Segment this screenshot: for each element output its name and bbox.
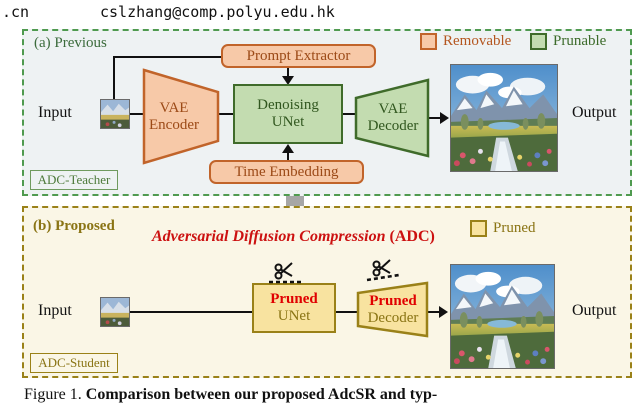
denoising-unet-box: Denoising UNet — [233, 84, 343, 144]
input-label-proposed: Input — [38, 302, 72, 320]
legend-prunable-swatch — [530, 33, 547, 50]
time-embedding-box: Time Embedding — [209, 160, 364, 184]
connector-prompt-branch-vert — [113, 56, 115, 100]
vae-decoder-line1: VAE — [379, 101, 408, 118]
pruned-decoder-label: Pruned Decoder — [355, 281, 431, 338]
adc-title: Adversarial Diffusion Compression (ADC) — [152, 228, 435, 246]
vae-encoder-line2: Encoder — [149, 117, 199, 134]
vae-decoder-label: VAE Decoder — [352, 78, 434, 158]
caption-bold: Comparison between our proposed AdcSR an… — [86, 386, 437, 403]
prompt-extractor-box: Prompt Extractor — [221, 44, 376, 68]
header-email: cslzhang@comp.polyu.edu.hk — [100, 3, 335, 21]
connector-input-pruned-unet — [130, 311, 252, 313]
scissors-icon — [366, 258, 400, 282]
pruned-decoder-top-label: Pruned — [369, 293, 417, 310]
legend-removable-swatch — [420, 33, 437, 50]
arrow-pruned-decoder-to-output — [439, 306, 448, 318]
vae-decoder-shape: VAE Decoder — [352, 78, 434, 158]
pruned-decoder-shape: Pruned Decoder — [355, 281, 431, 338]
pruned-decoder-bottom-label: Decoder — [368, 310, 419, 327]
vae-decoder-line2: Decoder — [368, 118, 419, 135]
pruned-unet-top-label: Pruned — [270, 291, 318, 308]
input-thumbnail-proposed — [100, 297, 130, 327]
adc-teacher-tag: ADC-Teacher — [30, 170, 118, 190]
arrow-time-to-unet — [282, 144, 294, 153]
input-thumbnail-previous — [100, 99, 130, 129]
arrow-decoder-to-output — [440, 112, 449, 124]
panel-b-label: (b) Proposed — [33, 218, 115, 235]
legend-removable: Removable — [420, 33, 511, 50]
legend-pruned: Pruned — [470, 220, 536, 237]
output-image-proposed — [450, 264, 555, 369]
header-left-text: .cn — [2, 3, 29, 21]
vae-encoder-shape: VAE Encoder — [128, 68, 220, 165]
output-label-proposed: Output — [572, 302, 616, 320]
adc-title-italic: Adversarial Diffusion Compression — [152, 228, 386, 245]
legend-removable-label: Removable — [443, 33, 511, 50]
caption-lead: Figure 1. — [24, 386, 82, 403]
legend-prunable-label: Prunable — [553, 33, 606, 50]
connector-prompt-branch-horz — [113, 56, 223, 58]
panel-a-label: (a) Previous — [34, 35, 107, 52]
input-label-previous: Input — [38, 104, 72, 122]
denoising-unet-line2: UNet — [272, 114, 305, 131]
output-label-previous: Output — [572, 104, 616, 122]
vae-encoder-label: VAE Encoder — [128, 68, 220, 165]
denoising-unet-line1: Denoising — [257, 97, 319, 114]
legend-pruned-label: Pruned — [493, 220, 536, 237]
figure-caption: Figure 1. Comparison between our propose… — [24, 386, 624, 404]
legend-pruned-swatch — [470, 220, 487, 237]
adc-student-tag: ADC-Student — [30, 353, 118, 373]
header-line: .cn cslzhang@comp.polyu.edu.hk — [0, 2, 640, 26]
output-image-previous — [450, 64, 558, 172]
figure-page: .cn cslzhang@comp.polyu.edu.hk (a) Previ… — [0, 0, 640, 410]
scissors-icon — [268, 261, 302, 285]
adc-title-plain: (ADC) — [390, 228, 435, 245]
pruned-unet-bottom-label: UNet — [278, 308, 311, 325]
pruned-unet-box: Pruned UNet — [252, 283, 336, 333]
legend-prunable: Prunable — [530, 33, 606, 50]
vae-encoder-line1: VAE — [160, 100, 189, 117]
